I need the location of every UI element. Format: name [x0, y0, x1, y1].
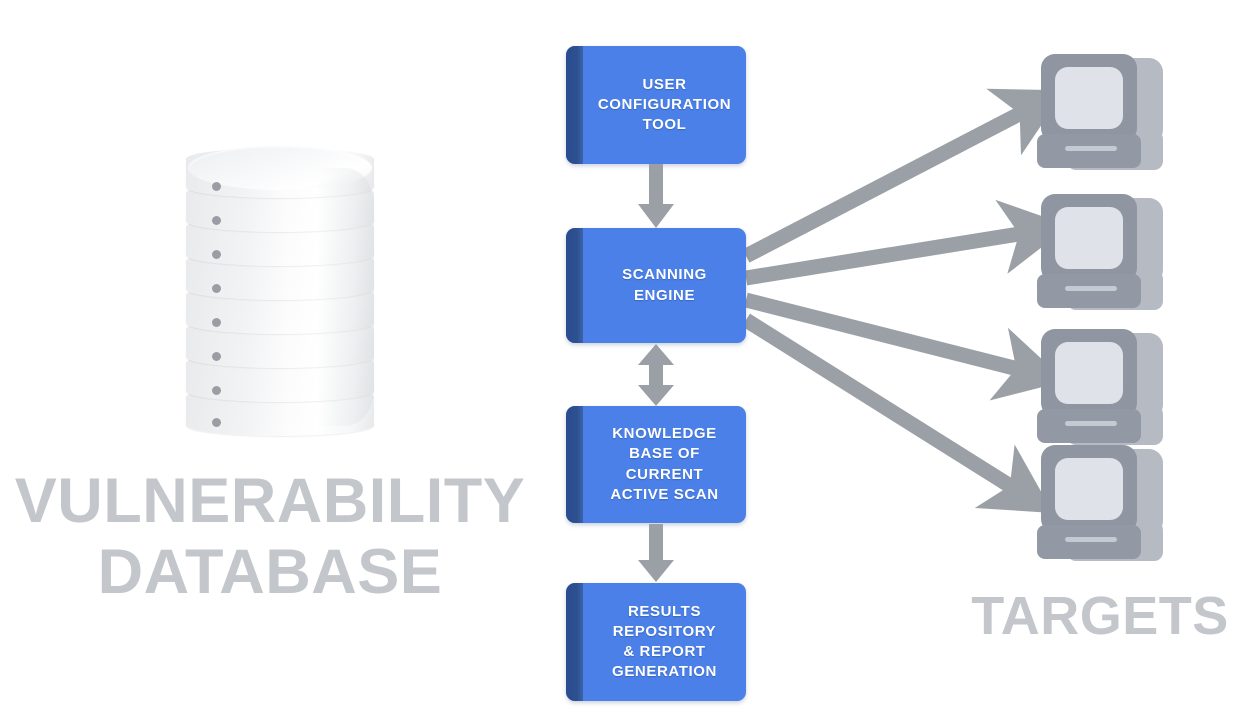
desktop-computer-icon[interactable] [1035, 443, 1183, 575]
database-indicator-dot [212, 216, 221, 225]
database-indicator-dot [212, 352, 221, 361]
box-label: SCANNING ENGINE [583, 228, 746, 343]
desktop-computer-icon[interactable] [1035, 192, 1183, 324]
box-results-repository[interactable]: RESULTS REPOSITORY & REPORT GENERATION [566, 583, 746, 701]
arrow-down-knowledge-base-to-results [634, 524, 678, 584]
arrow-engine-target-2 [746, 233, 1025, 278]
desktop-computer-icon[interactable] [1035, 327, 1183, 459]
database-indicator-dot [212, 182, 221, 191]
arrow-bidirectional-engine-knowledge-base [634, 344, 678, 406]
box-user-configuration-tool[interactable]: USER CONFIGURATION TOOL [566, 46, 746, 164]
box-label: KNOWLEDGE BASE OF CURRENT ACTIVE SCAN [583, 406, 746, 523]
vulnerability-database-label: VULNERABILITY DATABASE [10, 466, 530, 607]
database-indicator-dot [212, 250, 221, 259]
targets-label: TARGETS [940, 586, 1257, 646]
diagram-canvas: VULNERABILITY DATABASE USER CONFIGURATIO… [0, 0, 1257, 719]
box-accent-spine [566, 228, 583, 343]
database-cylinder-icon [186, 146, 374, 436]
box-label: USER CONFIGURATION TOOL [583, 46, 746, 164]
database-indicator-dot [212, 386, 221, 395]
arrow-engine-target-3 [746, 300, 1022, 370]
box-label: RESULTS REPOSITORY & REPORT GENERATION [583, 583, 746, 701]
desktop-computer-icon[interactable] [1035, 52, 1183, 184]
database-indicator-dot [212, 284, 221, 293]
database-indicator-dot [212, 418, 221, 427]
arrow-engine-target-1 [746, 111, 1025, 256]
vulnerability-database-icon [186, 146, 374, 436]
box-scanning-engine[interactable]: SCANNING ENGINE [566, 228, 746, 343]
database-indicator-dot [212, 318, 221, 327]
box-accent-spine [566, 406, 583, 523]
arrow-engine-target-4 [746, 320, 1015, 489]
box-accent-spine [566, 46, 583, 164]
box-knowledge-base[interactable]: KNOWLEDGE BASE OF CURRENT ACTIVE SCAN [566, 406, 746, 523]
arrow-down-config-to-engine [634, 164, 678, 230]
box-accent-spine [566, 583, 583, 701]
